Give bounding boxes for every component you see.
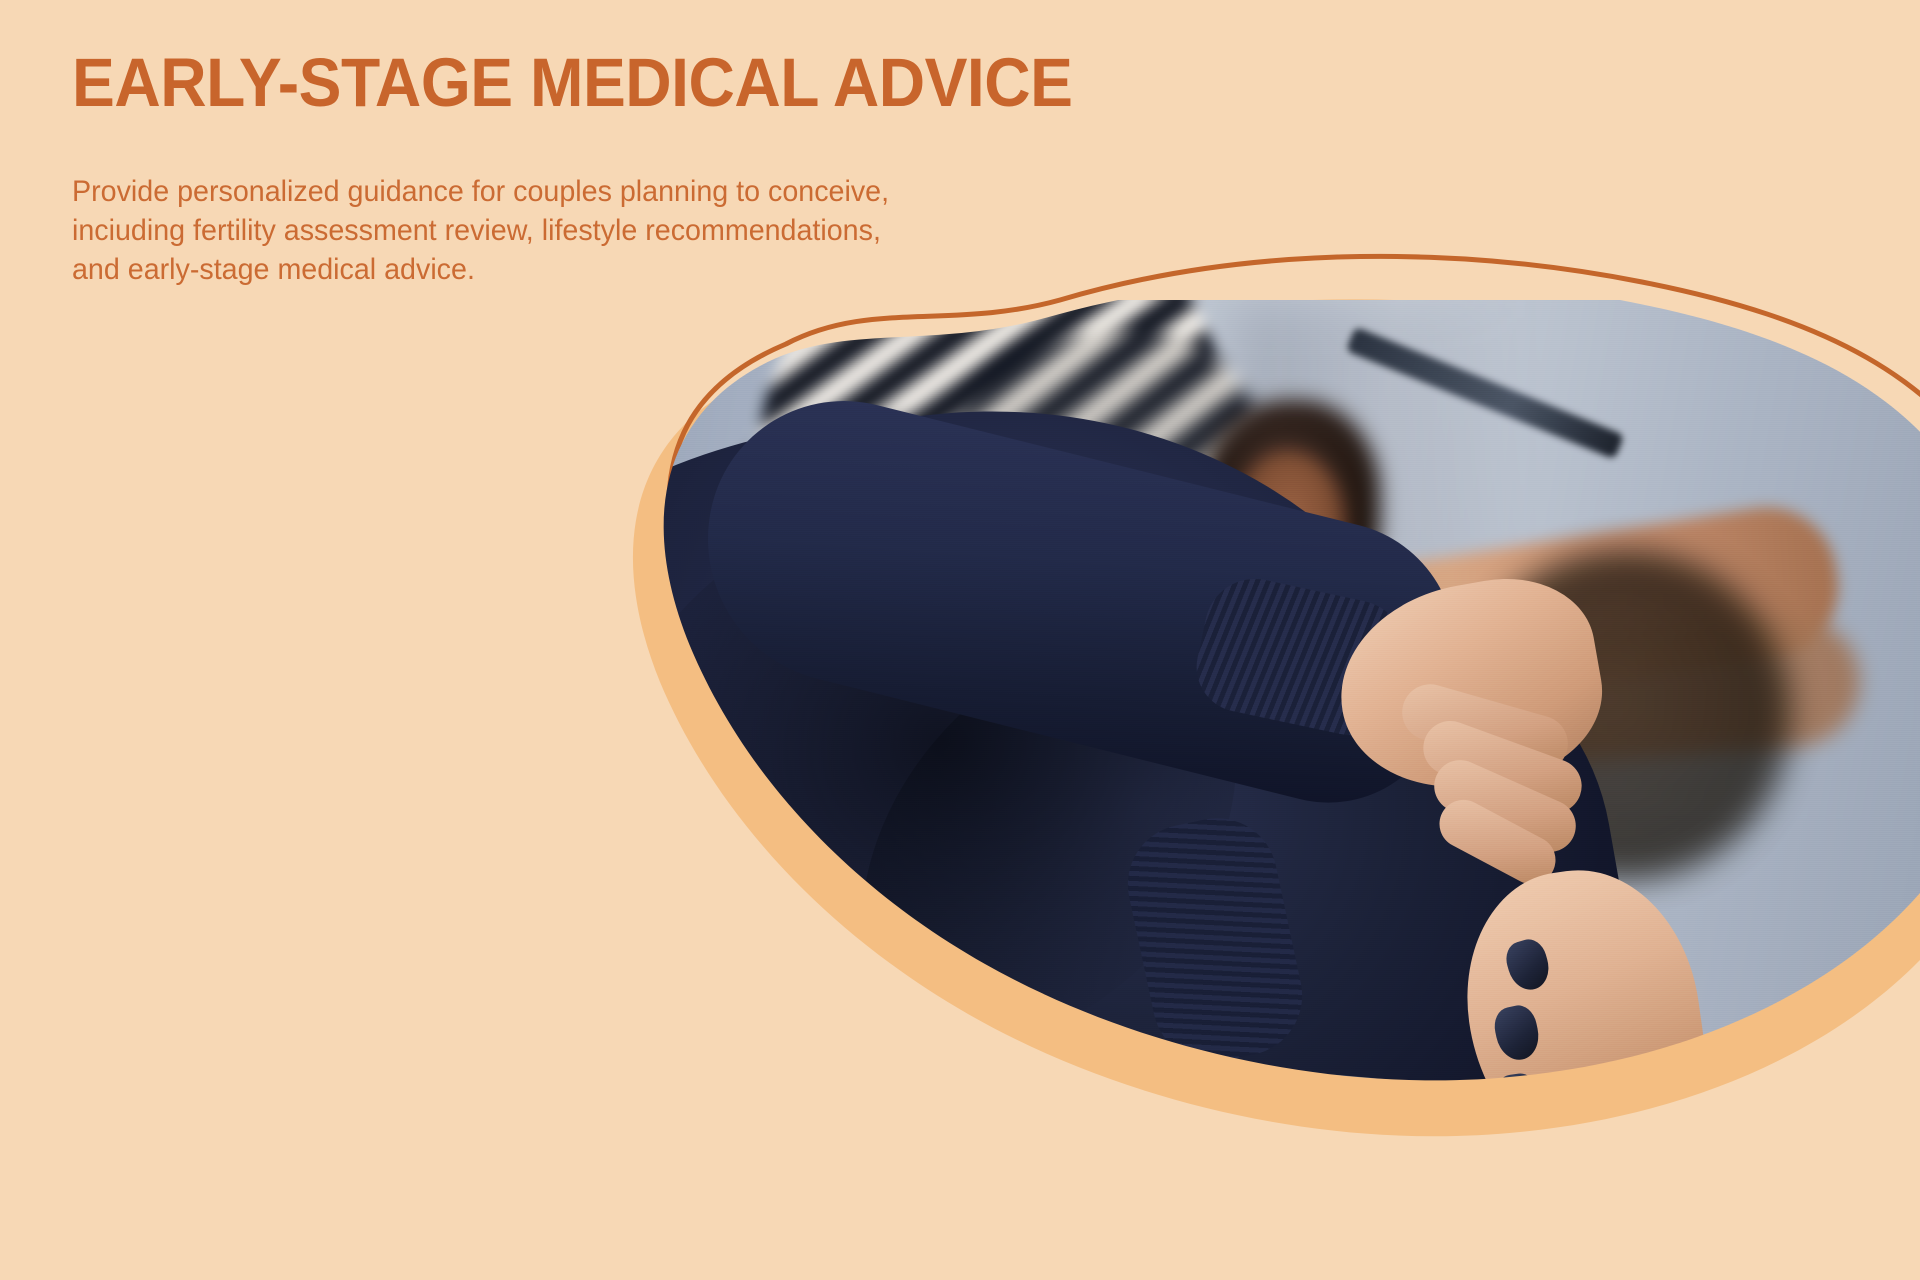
- text-block: EARLY-STAGE MEDICAL ADVICE Provide perso…: [72, 44, 1252, 289]
- page-description: Provide personalized guidance for couple…: [72, 122, 1199, 289]
- page-title: EARLY-STAGE MEDICAL ADVICE: [72, 44, 1169, 122]
- slide-canvas: EARLY-STAGE MEDICAL ADVICE Provide perso…: [0, 0, 1920, 1280]
